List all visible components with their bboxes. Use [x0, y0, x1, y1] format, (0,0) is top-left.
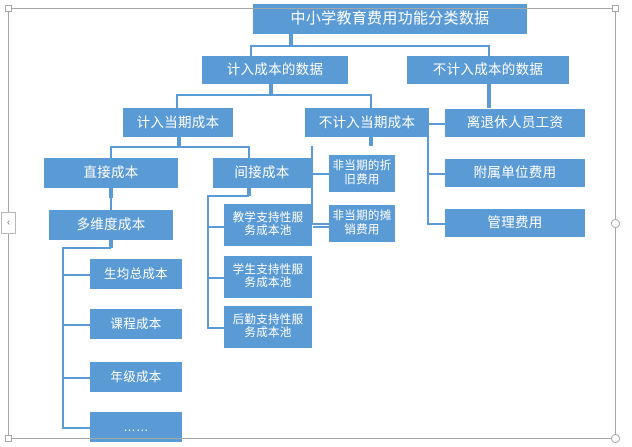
- node-multidim-cost[interactable]: 多维度成本: [49, 210, 173, 240]
- node-noncurrent-cost[interactable]: 不计入当期成本: [305, 108, 429, 137]
- node-affiliate-fee[interactable]: 附属单位费用: [445, 159, 585, 187]
- connector-currentcost-down: [177, 136, 181, 146]
- connector-direct-drop: [110, 146, 112, 158]
- connector-studentpool-stub: [207, 277, 224, 279]
- connector-notincost-down: [487, 83, 491, 108]
- connector-affiliate-stub: [427, 173, 445, 175]
- node-grade-cost[interactable]: 年级成本: [90, 362, 182, 392]
- node-per-student-cost[interactable]: 生均总成本: [90, 259, 182, 289]
- connector-pool-spine: [207, 196, 209, 328]
- connector-gradecost-stub: [62, 377, 90, 379]
- node-course-cost[interactable]: 课程成本: [90, 309, 182, 339]
- connector-row4-bus: [110, 146, 250, 148]
- node-current-cost[interactable]: 计入当期成本: [123, 108, 233, 137]
- connector-row3-bus: [176, 94, 372, 96]
- node-ellipsis[interactable]: ……: [90, 412, 182, 442]
- connector-row2-bus: [250, 45, 490, 47]
- connector-ellipsis-stub: [62, 427, 90, 429]
- connector-noncurrentcost-down: [369, 136, 373, 146]
- node-retiree-salary[interactable]: 离退休人员工资: [445, 109, 585, 137]
- connector-indirect-to-spine: [207, 195, 249, 197]
- node-in-cost[interactable]: 计入成本的数据: [202, 56, 348, 84]
- resize-handle-bottom-left[interactable]: [5, 435, 12, 442]
- node-noncurrent-depreciation[interactable]: 非当期的折 旧费用: [329, 155, 395, 192]
- node-admin-fee[interactable]: 管理费用: [445, 209, 585, 237]
- connector-indirect-drop: [248, 146, 250, 158]
- connector-incost-down: [269, 83, 273, 94]
- connector-adminfee-stub: [427, 223, 445, 225]
- resize-handle-bottom-right[interactable]: [611, 434, 620, 443]
- node-student-pool[interactable]: 学生支持性服 务成本池: [224, 256, 312, 298]
- connector-direct-spine: [110, 198, 112, 210]
- connector-amortization-stub: [311, 223, 329, 225]
- connector-direct-down: [109, 188, 113, 198]
- connector-current-drop: [176, 94, 178, 108]
- resize-handle-top-right[interactable]: [612, 5, 619, 12]
- connector-noncurrent-to-retiree: [431, 123, 445, 125]
- connector-teachingpool-stub: [207, 226, 224, 228]
- diagram-canvas[interactable]: 中小学教育费用功能分类数据 计入成本的数据 不计入成本的数据 计入当期成本 不计…: [0, 0, 632, 447]
- connector-depreciation-stub: [311, 173, 329, 175]
- connector-coursecost-stub: [62, 324, 90, 326]
- connector-teachingpool-to-amort: [313, 226, 329, 228]
- resize-handle-top-left[interactable]: [5, 5, 12, 12]
- connector-perstudent-stub: [62, 274, 90, 276]
- connector-logisticspool-stub: [207, 327, 224, 329]
- node-logistics-pool[interactable]: 后勤支持性服 务成本池: [224, 306, 312, 348]
- node-teaching-pool[interactable]: 教学支持性服 务成本池: [224, 204, 312, 246]
- connector-multidim-to-spine: [62, 247, 111, 249]
- node-not-in-cost[interactable]: 不计入成本的数据: [407, 56, 569, 84]
- node-indirect-cost[interactable]: 间接成本: [213, 158, 311, 188]
- node-noncurrent-amortization[interactable]: 非当期的摊 销费用: [329, 205, 395, 242]
- connector-noncurrent-drop: [370, 94, 372, 108]
- node-direct-cost[interactable]: 直接成本: [44, 158, 178, 188]
- node-root[interactable]: 中小学教育费用功能分类数据: [253, 4, 527, 34]
- resize-handle-middle-right[interactable]: [611, 219, 620, 228]
- collapse-pane-button[interactable]: ‹: [1, 212, 16, 234]
